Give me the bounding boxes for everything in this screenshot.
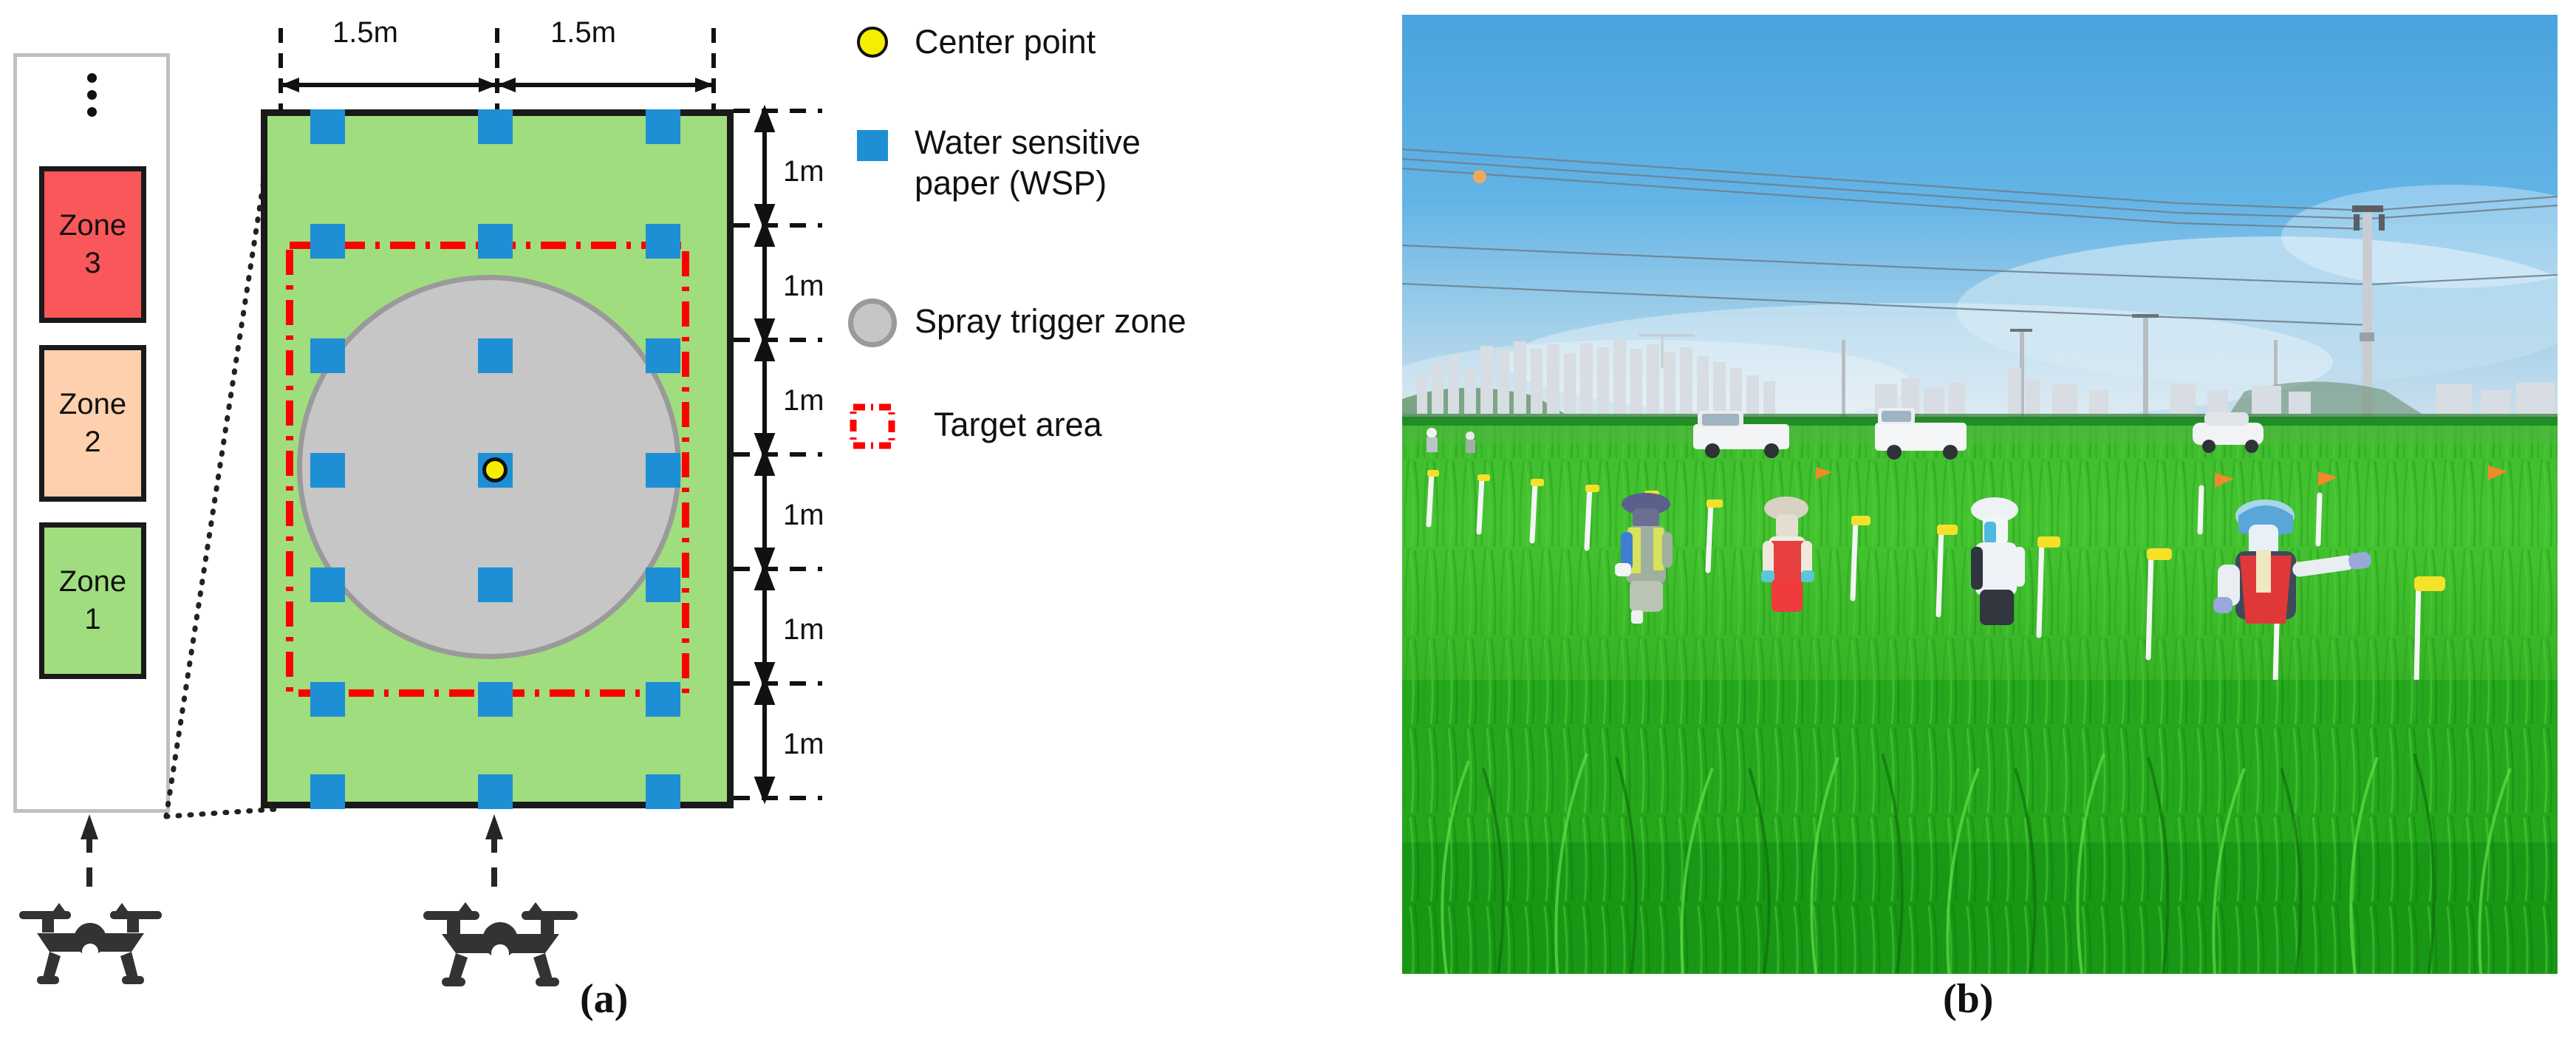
zone-2-number: 2 — [84, 423, 100, 461]
wsp-square — [478, 567, 513, 602]
wsp-square — [646, 224, 680, 259]
legend-item-spray-trigger-zone: Spray trigger zone — [848, 297, 1186, 347]
wsp-square — [310, 774, 345, 809]
legend-item-target-area: Target area — [850, 400, 1102, 449]
wsp-square — [310, 567, 345, 602]
dimension-label-1m-4: 1m — [783, 499, 824, 532]
wsp-square — [310, 338, 345, 373]
zone-box-3: Zone 3 — [39, 166, 146, 323]
legend-item-center-point: Center point — [857, 22, 1096, 63]
dimension-label-1m-3: 1m — [783, 384, 824, 417]
blue-square-icon — [857, 130, 888, 161]
panel-a-caption: (a) — [580, 975, 628, 1023]
wsp-square — [478, 224, 513, 259]
wsp-square — [310, 453, 345, 488]
dimension-label-1-5m-right: 1.5m — [550, 16, 616, 50]
legend-label-wsp-line1: Water sensitive — [915, 123, 1141, 163]
panel-a-diagram: Zone 3 Zone 2 Zone 1 — [0, 0, 1300, 1064]
horizontal-dimension-1-5m — [261, 7, 734, 111]
zone-3-number: 3 — [84, 245, 100, 282]
wsp-square — [646, 453, 680, 488]
panel-b-photo — [1402, 15, 2558, 974]
dimension-label-1m-1: 1m — [783, 155, 824, 188]
zone-1-number: 1 — [84, 601, 100, 638]
gray-circle-icon — [848, 299, 897, 347]
dimension-label-1-5m-left: 1.5m — [332, 16, 398, 50]
drone-left-arrow-icon — [79, 813, 100, 887]
wsp-square — [646, 109, 680, 144]
zone-box-2: Zone 2 — [39, 345, 146, 502]
drone-icon-center — [417, 883, 584, 994]
wsp-square — [310, 682, 345, 717]
wsp-square — [478, 338, 513, 373]
zone-1-label: Zone — [59, 563, 126, 601]
dimension-label-1m-6: 1m — [783, 728, 824, 761]
wsp-square — [646, 774, 680, 809]
legend-label-target-area: Target area — [934, 405, 1102, 446]
wsp-square — [478, 774, 513, 809]
wsp-square — [478, 682, 513, 717]
line-marker — [1473, 170, 1486, 183]
legend: Center point Water sensitive paper (WSP)… — [857, 22, 1300, 539]
wsp-square — [646, 338, 680, 373]
dimension-label-1m-5: 1m — [783, 613, 824, 647]
drone-center-arrow-icon — [484, 813, 505, 887]
rice-field-photo — [1402, 15, 2558, 974]
zone-2-label: Zone — [59, 386, 126, 423]
wsp-square — [478, 109, 513, 144]
legend-label-spray-trigger-zone: Spray trigger zone — [915, 301, 1186, 342]
legend-label-wsp-line2: paper (WSP) — [915, 163, 1141, 204]
drone-icon-left — [15, 883, 166, 994]
field-plot — [261, 109, 734, 808]
wsp-square — [310, 109, 345, 144]
foreground-rice — [1402, 680, 2558, 974]
figure-root: Zone 3 Zone 2 Zone 1 — [0, 0, 2576, 1064]
red-dashdot-square-icon — [850, 403, 895, 449]
wsp-square — [646, 682, 680, 717]
zone-3-label: Zone — [59, 207, 126, 245]
legend-label-center-point: Center point — [915, 22, 1096, 63]
panel-b-caption: (b) — [1943, 975, 1993, 1023]
center-point-marker — [482, 457, 508, 482]
zone-box-1: Zone 1 — [39, 522, 146, 679]
wsp-square — [646, 567, 680, 602]
legend-item-wsp: Water sensitive paper (WSP) — [857, 123, 1141, 204]
dimension-label-1m-2: 1m — [783, 270, 824, 303]
yellow-circle-icon — [857, 27, 888, 58]
wsp-square — [310, 224, 345, 259]
